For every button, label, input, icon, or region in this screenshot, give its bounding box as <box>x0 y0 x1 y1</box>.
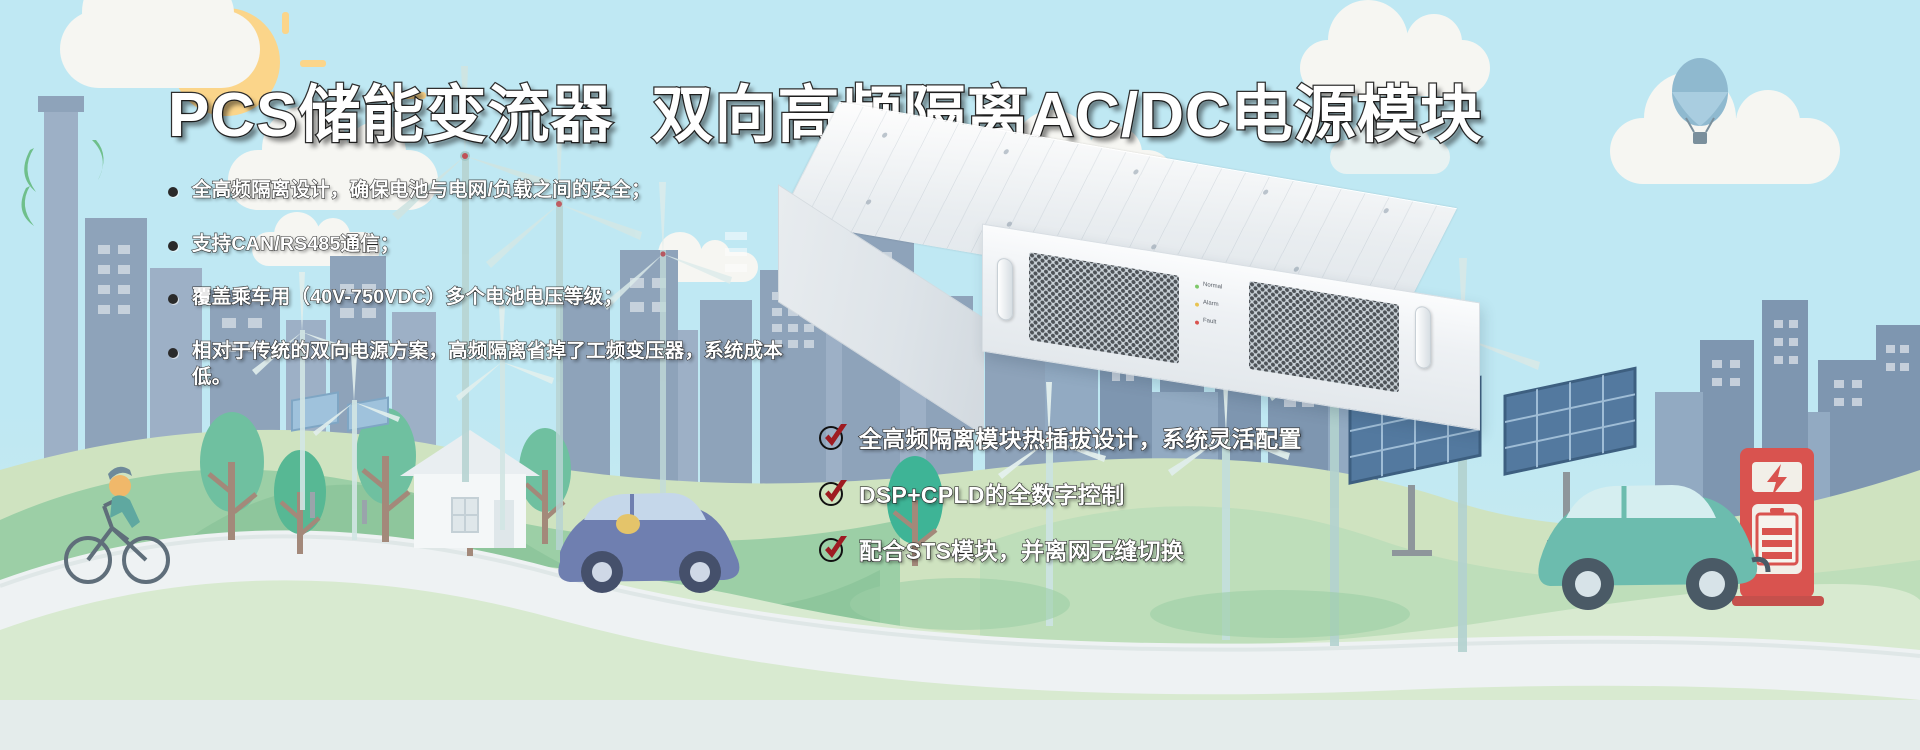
bullet-dot-icon <box>168 241 178 251</box>
device-vent-left <box>1029 252 1179 364</box>
led-fault <box>1195 320 1199 325</box>
list-item: 配合STS模块，并离网无缝切换 <box>818 532 1302 566</box>
device-handle-right <box>1415 305 1431 370</box>
title-part-2: 双向高频隔离AC/DC电源模块 <box>651 81 1482 150</box>
feature-text: 相对于传统的双向电源方案，高频隔离省掉了工频变压器，系统成本低。 <box>192 339 788 390</box>
device-handle-left <box>997 257 1013 322</box>
feature-text: 支持CAN/RS485通信； <box>192 232 400 258</box>
led-normal <box>1195 284 1199 289</box>
check-circle-icon <box>818 478 848 508</box>
bullet-dot-icon <box>168 187 178 197</box>
led-label-normal: Normal <box>1203 282 1222 291</box>
list-item: DSP+CPLD的全数字控制 <box>818 476 1302 510</box>
bullet-dot-icon <box>168 294 178 304</box>
list-item: 全高频隔离模块热插拔设计，系统灵活配置 <box>818 420 1302 454</box>
highlight-list: 全高频隔离模块热插拔设计，系统灵活配置 DSP+CPLD的全数字控制 配合STS… <box>818 420 1302 588</box>
led-alarm <box>1195 302 1199 307</box>
bullet-dot-icon <box>168 348 178 358</box>
feature-text: 全高频隔离设计，确保电池与电网/负载之间的安全； <box>192 178 651 204</box>
led-label-fault: Fault <box>1203 318 1216 326</box>
feature-list: 全高频隔离设计，确保电池与电网/负载之间的安全； 支持CAN/RS485通信； … <box>168 178 788 391</box>
list-item: 覆盖乘车用（40V-750VDC）多个电池电压等级； <box>168 285 788 311</box>
pcs-power-module-image: Normal Alarm Fault <box>770 155 1480 405</box>
highlight-text: DSP+CPLD的全数字控制 <box>859 476 1125 510</box>
highlight-text: 全高频隔离模块热插拔设计，系统灵活配置 <box>859 420 1302 454</box>
feature-text: 覆盖乘车用（40V-750VDC）多个电池电压等级； <box>192 285 623 311</box>
check-circle-icon <box>818 422 848 452</box>
banner-stage: PCS储能变流器双向高频隔离AC/DC电源模块 全高频隔离设计，确保电池与电网/… <box>0 0 1920 750</box>
device-vent-right <box>1249 281 1399 393</box>
hot-air-balloon-icon <box>1660 52 1740 172</box>
check-circle-icon <box>818 534 848 564</box>
list-item: 全高频隔离设计，确保电池与电网/负载之间的安全； <box>168 178 788 204</box>
led-label-alarm: Alarm <box>1203 300 1219 308</box>
list-item: 相对于传统的双向电源方案，高频隔离省掉了工频变压器，系统成本低。 <box>168 339 788 390</box>
title-part-1: PCS储能变流器 <box>168 81 613 150</box>
list-item: 支持CAN/RS485通信； <box>168 232 788 258</box>
highlight-text: 配合STS模块，并离网无缝切换 <box>859 532 1184 566</box>
